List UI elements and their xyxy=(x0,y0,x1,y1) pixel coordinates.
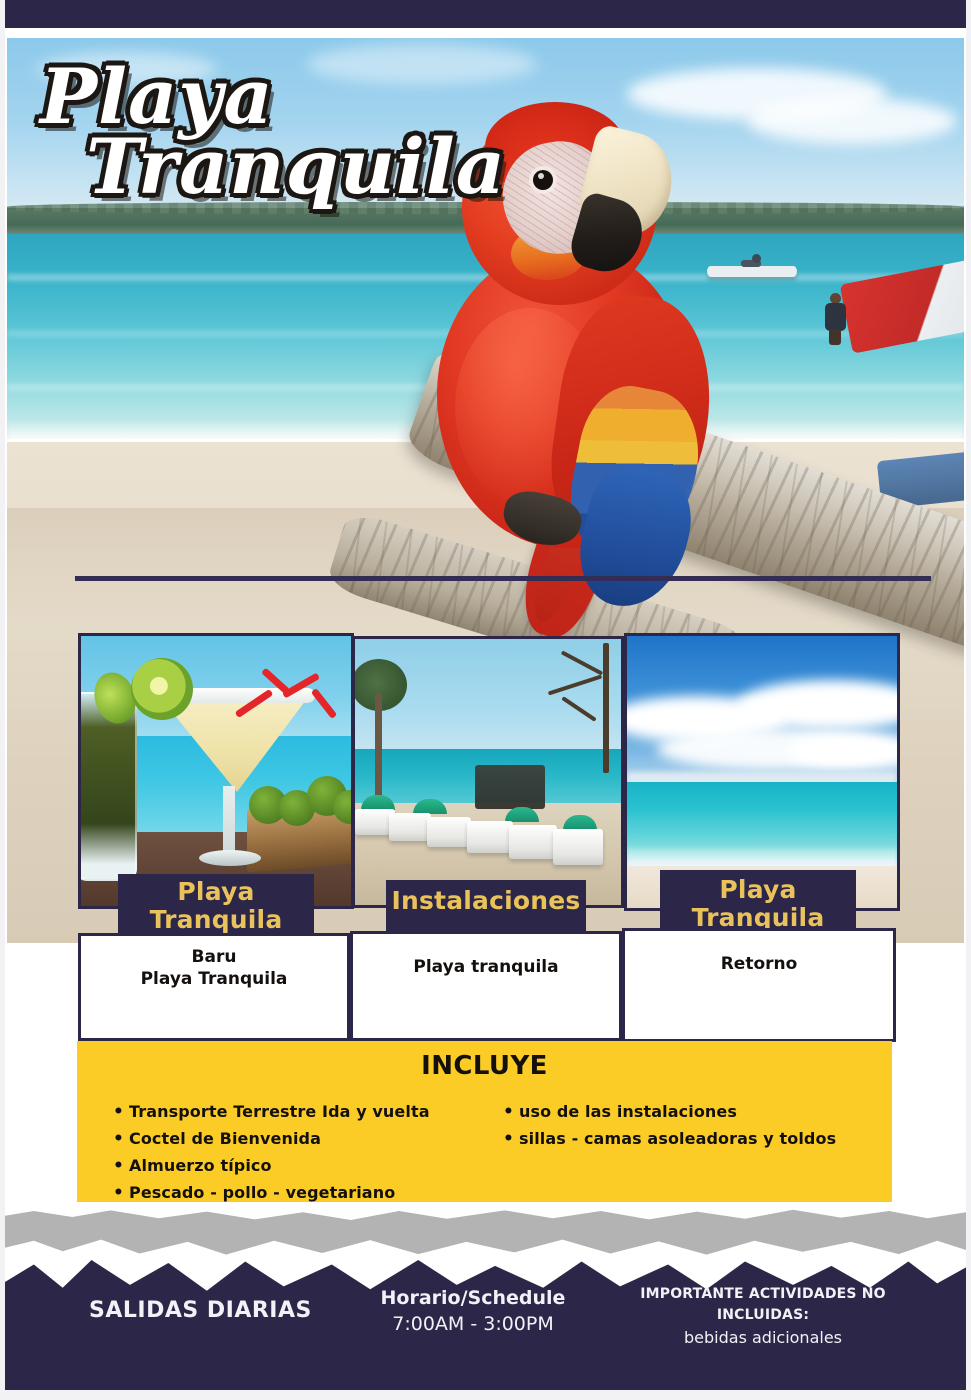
straw-segment xyxy=(235,689,274,718)
branch-twig xyxy=(561,696,596,722)
card-1-subtitle-line-2: Playa Tranquila xyxy=(141,969,288,989)
card-3-header-line-1: Playa xyxy=(719,875,796,904)
footer-important-value: bebidas adicionales xyxy=(613,1326,913,1350)
green-umbrella-icon xyxy=(563,815,597,830)
card-1-header-line-2: Tranquila xyxy=(150,905,283,934)
list-item: Almuerzo típico xyxy=(129,1153,507,1180)
card-2-header: Instalaciones xyxy=(386,880,586,933)
card-1-body: Baru Playa Tranquila xyxy=(78,933,350,1041)
green-umbrella-icon xyxy=(361,795,395,810)
lounger-icon xyxy=(509,825,557,859)
card-2-subtitle-line-1: Playa tranquila xyxy=(413,957,558,977)
green-umbrella-icon xyxy=(413,799,447,814)
travel-poster: Playa Tranquila xyxy=(0,0,971,1400)
footer-important-label: IMPORTANTE ACTIVIDADES NO INCLUIDAS: xyxy=(613,1284,913,1326)
margarita-stem xyxy=(223,786,235,858)
footer-salidas-diarias: SALIDAS DIARIAS xyxy=(89,1298,329,1323)
card-photo-2 xyxy=(352,636,624,908)
footer-schedule-value: 7:00AM - 3:00PM xyxy=(343,1312,603,1338)
card-1-subtitle-line-1: Baru xyxy=(192,947,237,967)
green-umbrella-icon xyxy=(505,807,539,822)
card-1-header-line-1: Playa xyxy=(177,877,254,906)
lime-icon xyxy=(333,790,354,824)
card-2-subtitle: Playa tranquila xyxy=(353,956,619,978)
lounger-icon xyxy=(553,829,603,865)
incluye-panel: INCLUYE Transporte Terrestre Ida y vuelt… xyxy=(77,1041,892,1202)
list-item: sillas - camas asoleadoras y toldos xyxy=(519,1126,887,1153)
incluye-column-left: Transporte Terrestre Ida y vuelta Coctel… xyxy=(107,1099,507,1207)
red-straw-icon xyxy=(233,670,335,728)
card-3-subtitle-line-1: Retorno xyxy=(721,954,798,974)
card-photo-1 xyxy=(78,633,354,909)
incluye-list-right: uso de las instalaciones sillas - camas … xyxy=(497,1099,887,1153)
beach-loungers-row xyxy=(355,789,621,869)
card-1-subtitle: Baru Playa Tranquila xyxy=(81,946,347,991)
list-item: Coctel de Bienvenida xyxy=(129,1126,507,1153)
lounger-icon xyxy=(427,817,471,847)
margarita-foot xyxy=(199,850,261,866)
card-2-header-line-1: Instalaciones xyxy=(391,886,580,915)
straw-segment xyxy=(311,688,337,719)
branch-twig xyxy=(561,650,603,675)
list-item: Transporte Terrestre Ida y vuelta xyxy=(129,1099,507,1126)
card-3-body: Retorno xyxy=(622,928,896,1042)
footer-schedule: Horario/Schedule 7:00AM - 3:00PM xyxy=(343,1286,603,1337)
lounger-icon xyxy=(467,821,513,853)
footer-schedule-label: Horario/Schedule xyxy=(343,1286,603,1312)
limes-group xyxy=(249,772,354,824)
incluye-column-right: uso de las instalaciones sillas - camas … xyxy=(497,1099,887,1153)
lounger-icon xyxy=(389,813,431,841)
branch-twig xyxy=(548,674,602,695)
list-item: uso de las instalaciones xyxy=(519,1099,887,1126)
card-2-body: Playa tranquila xyxy=(350,931,622,1041)
lime-wedge-icon xyxy=(131,658,193,720)
incluye-list-left: Transporte Terrestre Ida y vuelta Coctel… xyxy=(107,1099,507,1207)
footer-bar: SALIDAS DIARIAS Horario/Schedule 7:00AM … xyxy=(5,1280,966,1388)
bare-branch-icon xyxy=(529,643,619,773)
incluye-title: INCLUYE xyxy=(77,1051,892,1081)
list-item: Pescado - pollo - vegetariano xyxy=(129,1180,507,1207)
footer-important-note: IMPORTANTE ACTIVIDADES NO INCLUIDAS: beb… xyxy=(613,1284,913,1350)
card-3-subtitle: Retorno xyxy=(625,953,893,975)
branch-trunk xyxy=(603,643,609,773)
